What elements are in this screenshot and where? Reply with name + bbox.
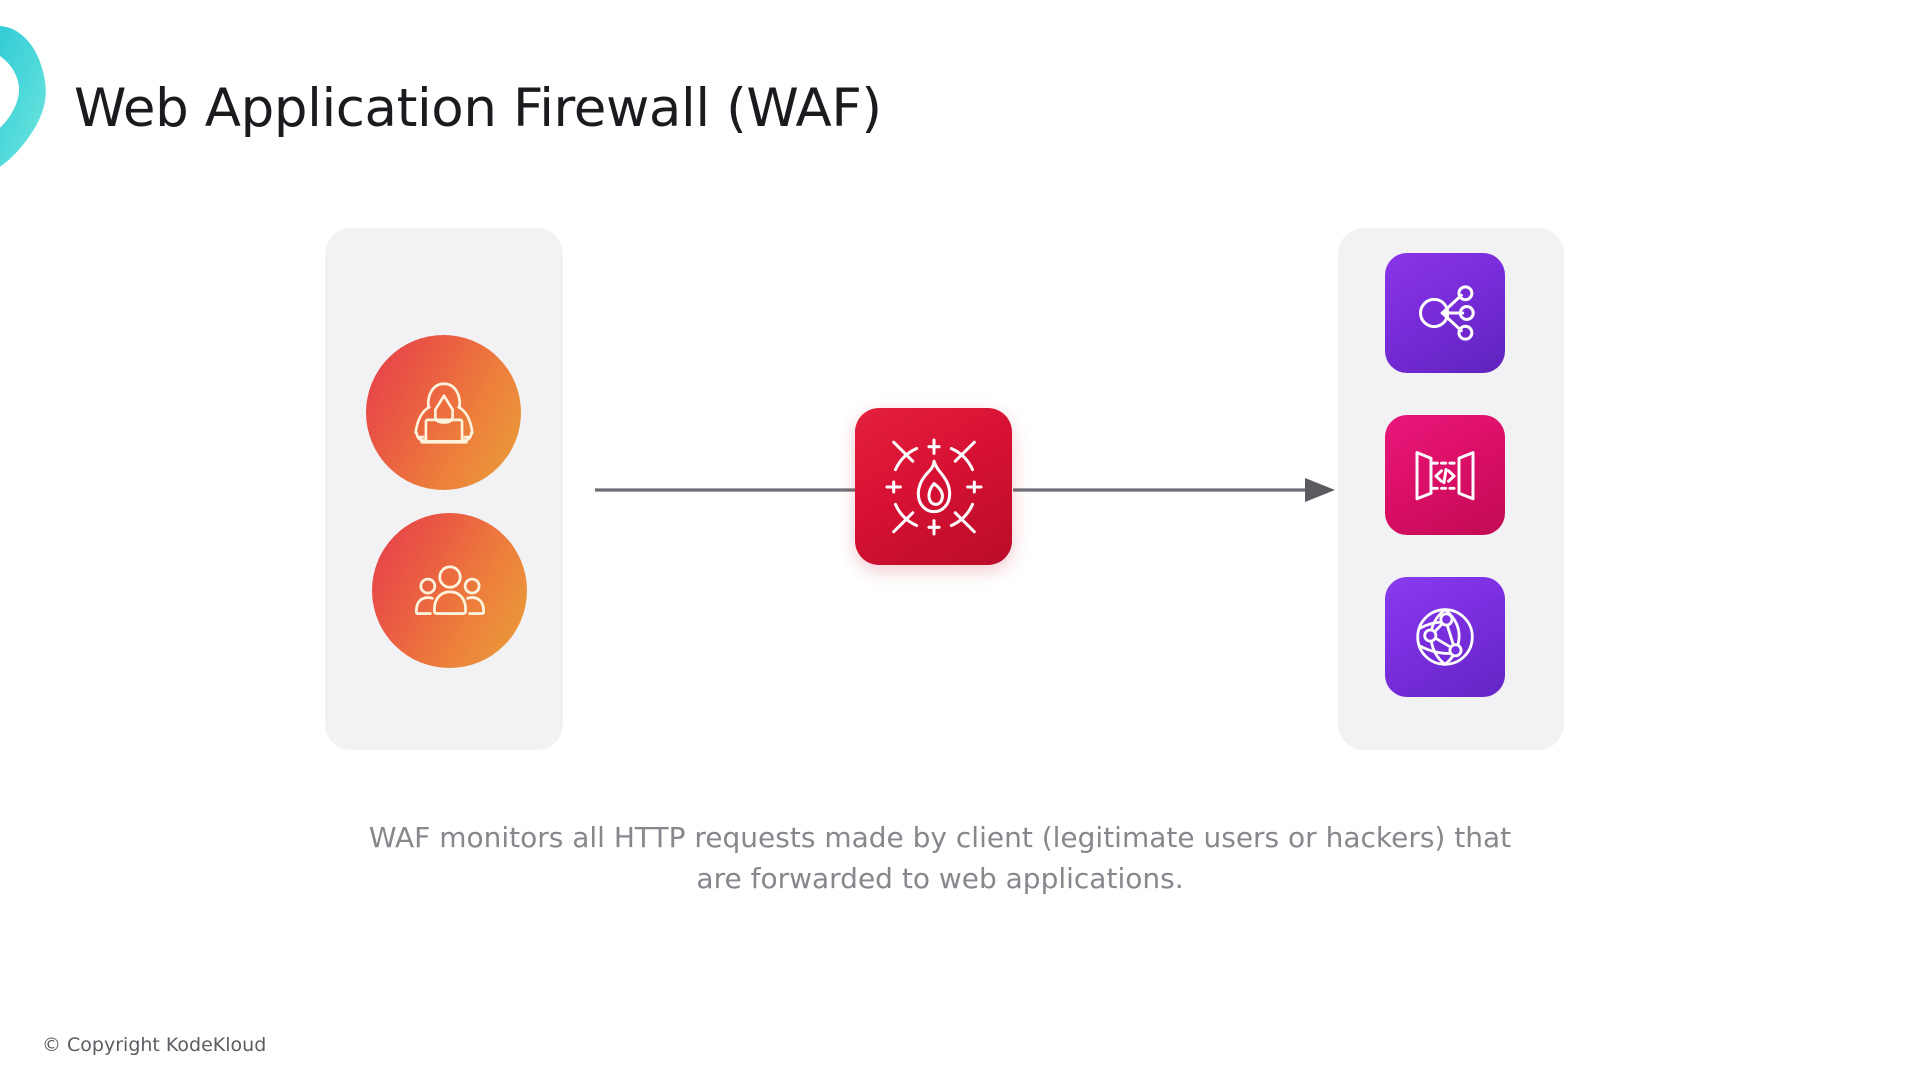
caption-line-2: are forwarded to web applications. (340, 859, 1540, 900)
diagram-stage (0, 0, 1920, 1080)
firewall-tile[interactable] (855, 408, 1012, 565)
network-share-nodes-icon (1411, 279, 1479, 347)
client-node-users[interactable] (372, 513, 527, 668)
users-group-icon (409, 550, 491, 632)
app-tile-network[interactable] (1385, 253, 1505, 373)
footer-copyright: © Copyright KodeKloud (42, 1034, 266, 1056)
app-tile-webapp[interactable] (1385, 415, 1505, 535)
app-tile-globe[interactable] (1385, 577, 1505, 697)
client-node-hacker[interactable] (366, 335, 521, 490)
hacker-hoodie-laptop-icon (401, 370, 487, 456)
globe-network-icon (1410, 602, 1480, 672)
diagram-caption: WAF monitors all HTTP requests made by c… (340, 818, 1540, 899)
caption-line-1: WAF monitors all HTTP requests made by c… (340, 818, 1540, 859)
firewall-flame-crosshair-icon (878, 431, 990, 543)
web-application-code-icon (1410, 440, 1480, 510)
